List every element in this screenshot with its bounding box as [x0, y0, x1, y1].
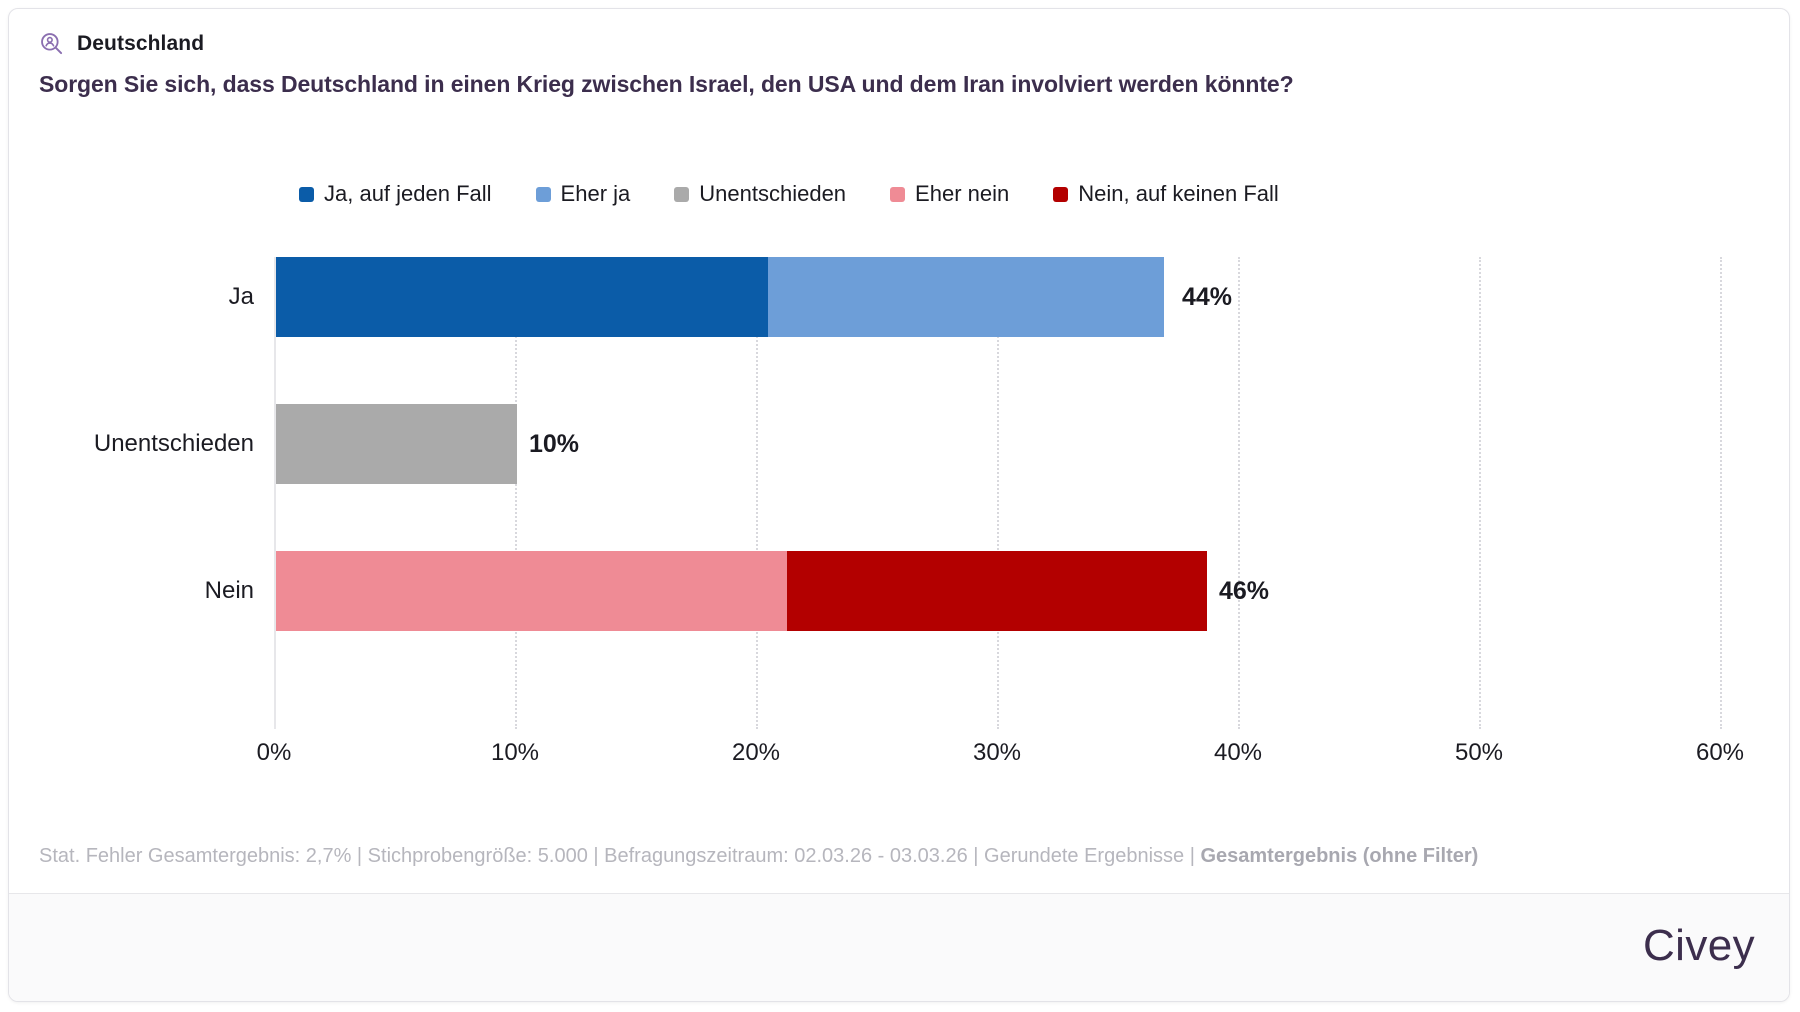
x-axis-tick-40: 40%: [1214, 739, 1262, 767]
source-note-text: Stat. Fehler Gesamtergebnis: 2,7% | Stic…: [39, 845, 1200, 867]
legend-item-nein-eher[interactable]: Eher nein: [890, 181, 1009, 207]
legend-swatch-icon: [1053, 187, 1068, 202]
bar-row-ja[interactable]: 44%: [276, 257, 1721, 337]
x-axis-tick-50: 50%: [1455, 739, 1503, 767]
region-header: Deutschland: [39, 31, 204, 57]
person-search-icon: [39, 31, 65, 57]
legend-item-unentschieden[interactable]: Unentschieden: [674, 181, 846, 207]
legend-item-ja-stark[interactable]: Ja, auf jeden Fall: [299, 181, 492, 207]
x-axis-tick-10: 10%: [491, 739, 539, 767]
brand-bar: [9, 894, 1789, 1002]
chart-legend: Ja, auf jeden Fall Eher ja Unentschieden…: [299, 181, 1323, 207]
legend-swatch-icon: [536, 187, 551, 202]
civey-logo: Civey: [1643, 921, 1755, 971]
y-axis-labels: Ja Unentschieden Nein: [24, 257, 254, 729]
x-axis-tick-30: 30%: [973, 739, 1021, 767]
bar-row-unentschieden[interactable]: 10%: [276, 404, 1721, 484]
stacked-bar-unentschieden: [276, 404, 517, 484]
bar-segment-ja-eher[interactable]: [768, 257, 1164, 337]
poll-result-card: Deutschland Sorgen Sie sich, dass Deutsc…: [8, 8, 1790, 1002]
legend-swatch-icon: [674, 187, 689, 202]
source-note-filter: Gesamtergebnis (ohne Filter): [1200, 845, 1478, 867]
x-axis-tick-0: 0%: [257, 739, 292, 767]
bar-value-nein: 46%: [1219, 551, 1269, 631]
bar-value-unentschieden: 10%: [529, 404, 579, 484]
y-axis-label-ja: Ja: [229, 257, 254, 337]
x-axis-tick-60: 60%: [1696, 739, 1744, 767]
legend-label: Eher nein: [915, 181, 1009, 207]
footer-divider: [9, 893, 1789, 894]
x-axis-tick-20: 20%: [732, 739, 780, 767]
chart-plot-area: 44% 10% 46% 0% 10% 20% 30%: [274, 257, 1721, 729]
bar-segment-ja-stark[interactable]: [276, 257, 768, 337]
legend-item-ja-eher[interactable]: Eher ja: [536, 181, 631, 207]
legend-label: Nein, auf keinen Fall: [1078, 181, 1279, 207]
legend-swatch-icon: [890, 187, 905, 202]
legend-label: Ja, auf jeden Fall: [324, 181, 492, 207]
y-axis-label-nein: Nein: [205, 551, 254, 631]
stacked-bar-ja: [276, 257, 1164, 337]
legend-label: Eher ja: [561, 181, 631, 207]
question-title: Sorgen Sie sich, dass Deutschland in ein…: [39, 71, 1294, 98]
bar-segment-nein-stark[interactable]: [787, 551, 1207, 631]
legend-swatch-icon: [299, 187, 314, 202]
legend-label: Unentschieden: [699, 181, 846, 207]
stacked-bar-nein: [276, 551, 1207, 631]
source-note: Stat. Fehler Gesamtergebnis: 2,7% | Stic…: [39, 845, 1478, 868]
bar-segment-nein-eher[interactable]: [276, 551, 787, 631]
screenshot-root: Deutschland Sorgen Sie sich, dass Deutsc…: [0, 0, 1800, 1012]
region-label: Deutschland: [77, 32, 204, 56]
y-axis-label-unentschieden: Unentschieden: [94, 404, 254, 484]
bar-segment-unentschieden[interactable]: [276, 404, 517, 484]
bar-value-ja: 44%: [1182, 257, 1232, 337]
bar-row-nein[interactable]: 46%: [276, 551, 1721, 631]
legend-item-nein-stark[interactable]: Nein, auf keinen Fall: [1053, 181, 1279, 207]
